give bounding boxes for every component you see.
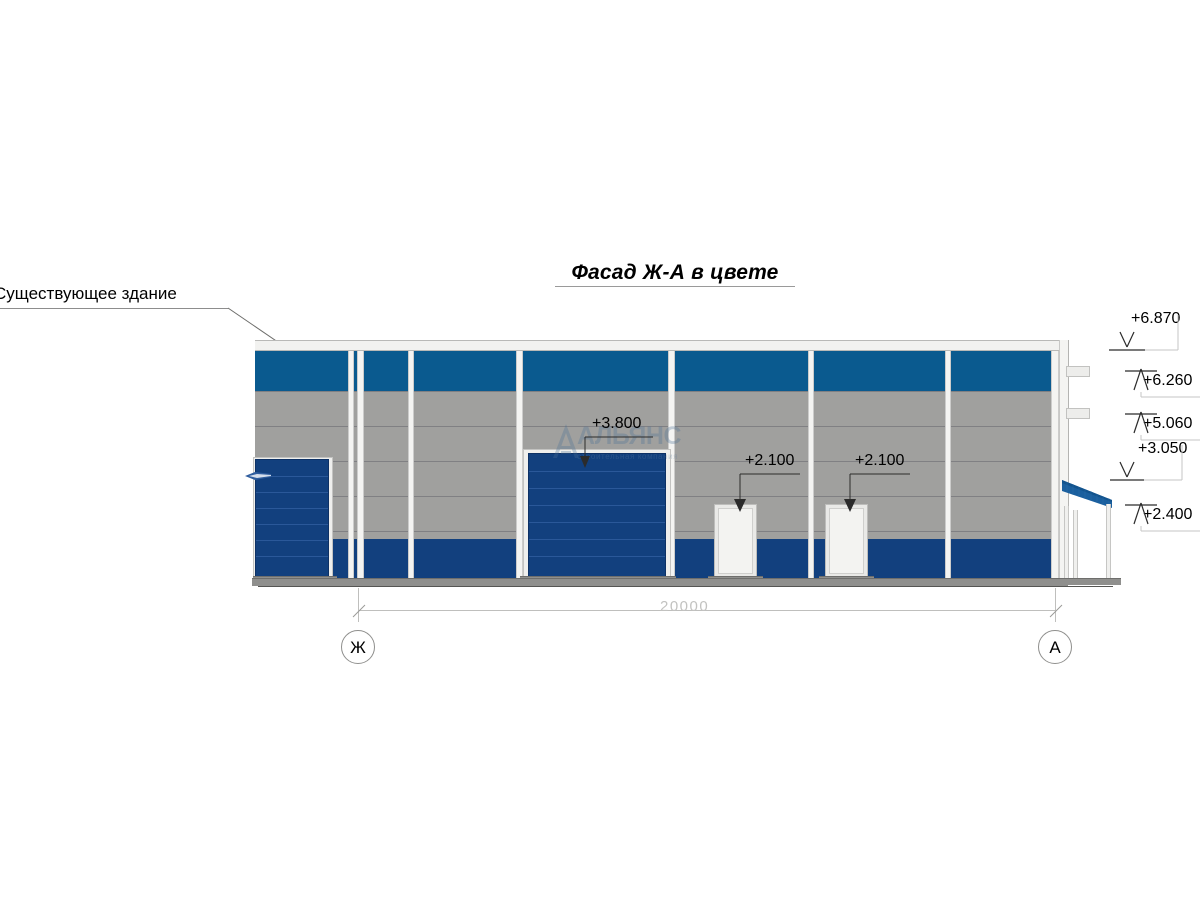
level-marker-6260-arrow-icon — [1115, 366, 1200, 400]
title-underline — [555, 286, 795, 287]
canopy-base-slab — [1053, 578, 1121, 585]
canopy-column-mid — [1073, 510, 1078, 585]
level-marker-5060-arrow-icon — [1115, 409, 1200, 443]
door-tag-3800-arrow-icon — [585, 434, 665, 470]
canopy-column-left — [1064, 506, 1069, 585]
axis-bubble-a-label: А — [1049, 639, 1060, 656]
drawing-title-block: Фасад Ж-А в цвете — [555, 261, 795, 287]
level-marker-6870-value: +6.870 — [1131, 310, 1180, 328]
overall-dimension-value: 20000 — [660, 598, 709, 615]
left-door-marker-icon — [245, 470, 271, 482]
dimension-tick-right-icon — [1047, 602, 1065, 620]
building-plinth — [252, 578, 1068, 586]
panel-joint-line — [255, 426, 1065, 427]
entrance-canopy — [1062, 480, 1112, 585]
level-marker-2400-arrow-icon — [1115, 500, 1200, 534]
level-marker-3050-arrow-icon — [1110, 461, 1200, 485]
ground-line — [258, 586, 1113, 587]
pedestrian-door-right-leaf — [829, 508, 864, 574]
canopy-roof — [1062, 480, 1112, 508]
pedestrian-door-left — [714, 504, 757, 578]
axis-bubble-zh: Ж — [341, 630, 375, 664]
callout-underline — [0, 308, 228, 309]
door-tag-2100-left-arrow-icon — [740, 471, 810, 515]
page-title: Фасад Ж-А в цвете — [555, 261, 795, 285]
elevation-drawing-sheet: Фасад Ж-А в цвете Существующее здание — [0, 0, 1200, 900]
callout-label-existing-building: Существующее здание — [0, 284, 177, 304]
facade-mullion — [516, 351, 523, 578]
pedestrian-door-right — [825, 504, 868, 578]
axis-bubble-zh-label: Ж — [350, 639, 366, 656]
pedestrian-door-left-leaf — [718, 508, 753, 574]
axis-bubble-a: А — [1038, 630, 1072, 664]
facade-mullion — [357, 351, 364, 578]
door-tag-2100-right-value: +2.100 — [855, 452, 904, 470]
canopy-column-right — [1106, 504, 1111, 585]
facade-mullion — [348, 351, 354, 578]
facade-mullion — [408, 351, 414, 578]
center-sectional-door — [528, 453, 666, 578]
facade-mullion — [808, 351, 814, 578]
facade-mullion — [945, 351, 951, 578]
panel-joint-line — [255, 391, 1065, 392]
door-tag-2100-right-arrow-icon — [850, 471, 920, 515]
wall-bracket-upper-icon — [1066, 366, 1090, 377]
level-marker-6870-arrow-icon — [1109, 331, 1200, 355]
facade-top-blue-band — [255, 351, 1065, 391]
door-tag-3800-value: +3.800 — [592, 415, 641, 433]
dimension-tick-left-icon — [350, 602, 368, 620]
parapet-cap — [255, 340, 1065, 351]
door-tag-2100-left-value: +2.100 — [745, 452, 794, 470]
facade-mullion — [1051, 351, 1059, 578]
level-marker-3050-value: +3.050 — [1138, 440, 1187, 458]
wall-bracket-lower-icon — [1066, 408, 1090, 419]
